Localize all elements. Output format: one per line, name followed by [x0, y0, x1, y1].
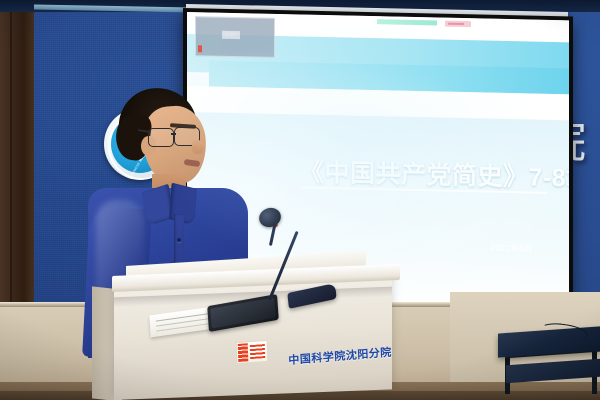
- slide-footer: 中国科学院沈阳分院: [467, 278, 539, 290]
- badge-red-block: [238, 343, 249, 362]
- photo-scene: 中国科学院 THE CHINESE ACADEMY OF SCIENCES 院 …: [0, 0, 600, 400]
- glasses-bridge: [171, 133, 176, 135]
- ppt-toolbar-pink: [445, 21, 471, 28]
- ppt-dialog-overlay[interactable]: 幻灯片: [195, 16, 275, 58]
- glasses-lens-left: [148, 128, 174, 147]
- slide-date: 2021年5月: [490, 241, 533, 255]
- podium-badge: [236, 340, 269, 364]
- ppt-dialog-title: 幻灯片: [222, 31, 240, 39]
- badge-lines: [250, 344, 265, 359]
- ppt-dialog-marker: [198, 45, 202, 52]
- nose: [192, 140, 204, 154]
- shirt-button: [177, 238, 181, 242]
